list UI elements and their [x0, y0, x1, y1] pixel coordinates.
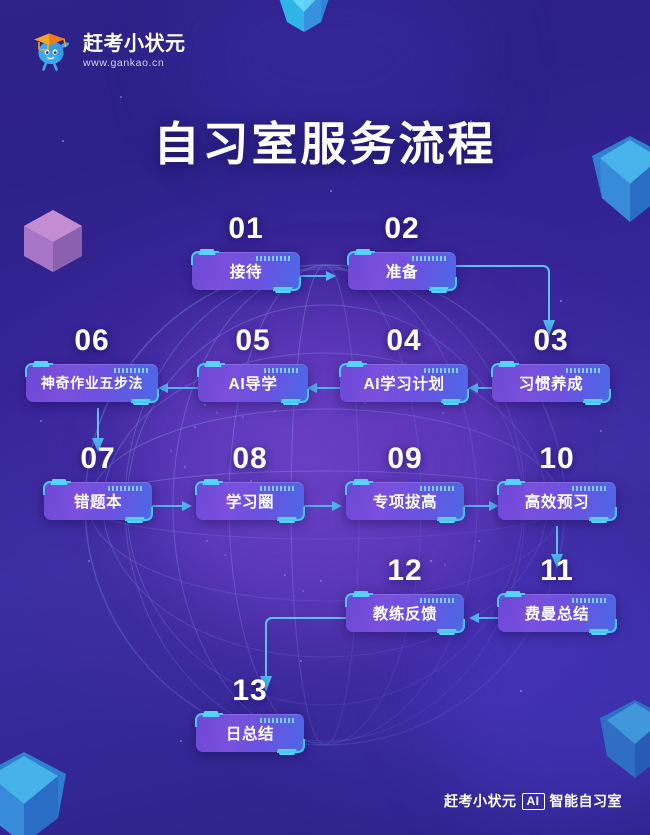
step-label: 专项拔高	[363, 490, 447, 512]
step-chip[interactable]: 错题本	[44, 482, 152, 520]
step-number: 07	[44, 442, 152, 476]
connector-01-to-02	[296, 268, 340, 284]
chip-corner-accent	[437, 629, 457, 635]
step-chip[interactable]: 教练反馈	[346, 594, 464, 632]
chip-corner-accent	[437, 517, 457, 523]
step-number: 10	[498, 442, 616, 476]
chip-corner-accent	[589, 517, 609, 523]
step-number: 12	[346, 554, 464, 588]
chip-corner-accent	[131, 399, 151, 405]
flow-diagram: 01 接待 02 准备 03 习惯养成	[0, 0, 650, 835]
chip-corner-accent	[32, 361, 50, 367]
step-number: 05	[198, 324, 308, 358]
step-chip[interactable]: AI学习计划	[340, 364, 468, 402]
chip-corner-accent	[198, 249, 216, 255]
footer-suffix-text: 智能自习室	[550, 791, 623, 811]
flow-step-05[interactable]: 05 AI导学	[198, 324, 308, 402]
chip-corner-accent	[204, 361, 222, 367]
chip-corner-accent	[125, 517, 145, 523]
step-label: 费曼总结	[515, 602, 599, 624]
step-number: 03	[492, 324, 610, 358]
step-label: 神奇作业五步法	[35, 373, 149, 393]
chip-corner-accent	[429, 287, 449, 293]
flow-step-02[interactable]: 02 准备	[348, 212, 456, 290]
chip-corner-accent	[583, 399, 603, 405]
step-label: 接待	[220, 260, 272, 282]
step-number: 01	[192, 212, 300, 246]
chip-corner-accent	[352, 479, 370, 485]
step-label: AI学习计划	[353, 372, 454, 394]
step-label: 学习圈	[216, 490, 284, 512]
flow-step-08[interactable]: 08 学习圈	[196, 442, 304, 520]
connector-07-to-08	[152, 498, 196, 514]
chip-corner-accent	[277, 517, 297, 523]
chip-corner-accent	[352, 591, 370, 597]
chip-corner-accent	[202, 711, 220, 717]
flow-step-06[interactable]: 06 神奇作业五步法	[26, 324, 158, 402]
flow-step-10[interactable]: 10 高效预习	[498, 442, 616, 520]
step-chip[interactable]: 准备	[348, 252, 456, 290]
chip-corner-accent	[273, 287, 293, 293]
step-chip[interactable]: AI导学	[198, 364, 308, 402]
step-label: 习惯养成	[509, 372, 593, 394]
connector-08-to-09	[302, 498, 346, 514]
footer-brand-text: 赶考小状元	[444, 791, 517, 811]
step-chip[interactable]: 专项拔高	[346, 482, 464, 520]
chip-corner-accent	[498, 361, 516, 367]
flow-step-13[interactable]: 13 日总结	[196, 674, 304, 752]
step-label: 高效预习	[515, 490, 599, 512]
flow-step-12[interactable]: 12 教练反馈	[346, 554, 464, 632]
poster-canvas: 赶考小状元 www.gankao.cn 自习室服务流程	[0, 0, 650, 835]
chip-corner-accent	[441, 399, 461, 405]
flow-step-01[interactable]: 01 接待	[192, 212, 300, 290]
footer-brand-line: 赶考小状元 AI 智能自习室	[444, 791, 622, 811]
chip-corner-accent	[589, 629, 609, 635]
step-number: 09	[346, 442, 464, 476]
step-number: 04	[340, 324, 468, 358]
chip-corner-accent	[281, 399, 301, 405]
step-label: AI导学	[219, 372, 288, 394]
step-number: 06	[26, 324, 158, 358]
step-label: 准备	[376, 260, 428, 282]
flow-step-09[interactable]: 09 专项拔高	[346, 442, 464, 520]
step-number: 13	[196, 674, 304, 708]
flow-step-04[interactable]: 04 AI学习计划	[340, 324, 468, 402]
step-chip[interactable]: 高效预习	[498, 482, 616, 520]
step-number: 08	[196, 442, 304, 476]
step-chip[interactable]: 日总结	[196, 714, 304, 752]
chip-corner-accent	[277, 749, 297, 755]
flow-step-11[interactable]: 11 费曼总结	[498, 554, 616, 632]
chip-corner-accent	[50, 479, 68, 485]
step-chip[interactable]: 接待	[192, 252, 300, 290]
step-label: 错题本	[64, 490, 132, 512]
step-number: 02	[348, 212, 456, 246]
chip-corner-accent	[202, 479, 220, 485]
step-label: 日总结	[216, 722, 284, 744]
step-chip[interactable]: 习惯养成	[492, 364, 610, 402]
chip-corner-accent	[354, 249, 372, 255]
step-number: 11	[498, 554, 616, 588]
flow-step-07[interactable]: 07 错题本	[44, 442, 152, 520]
connector-05-to-06	[154, 380, 198, 396]
footer-ai-badge: AI	[522, 793, 545, 810]
flow-step-03[interactable]: 03 习惯养成	[492, 324, 610, 402]
chip-corner-accent	[504, 479, 522, 485]
chip-corner-accent	[504, 591, 522, 597]
chip-corner-accent	[346, 361, 364, 367]
step-chip[interactable]: 费曼总结	[498, 594, 616, 632]
step-label: 教练反馈	[363, 602, 447, 624]
step-chip[interactable]: 神奇作业五步法	[26, 364, 158, 402]
step-chip[interactable]: 学习圈	[196, 482, 304, 520]
